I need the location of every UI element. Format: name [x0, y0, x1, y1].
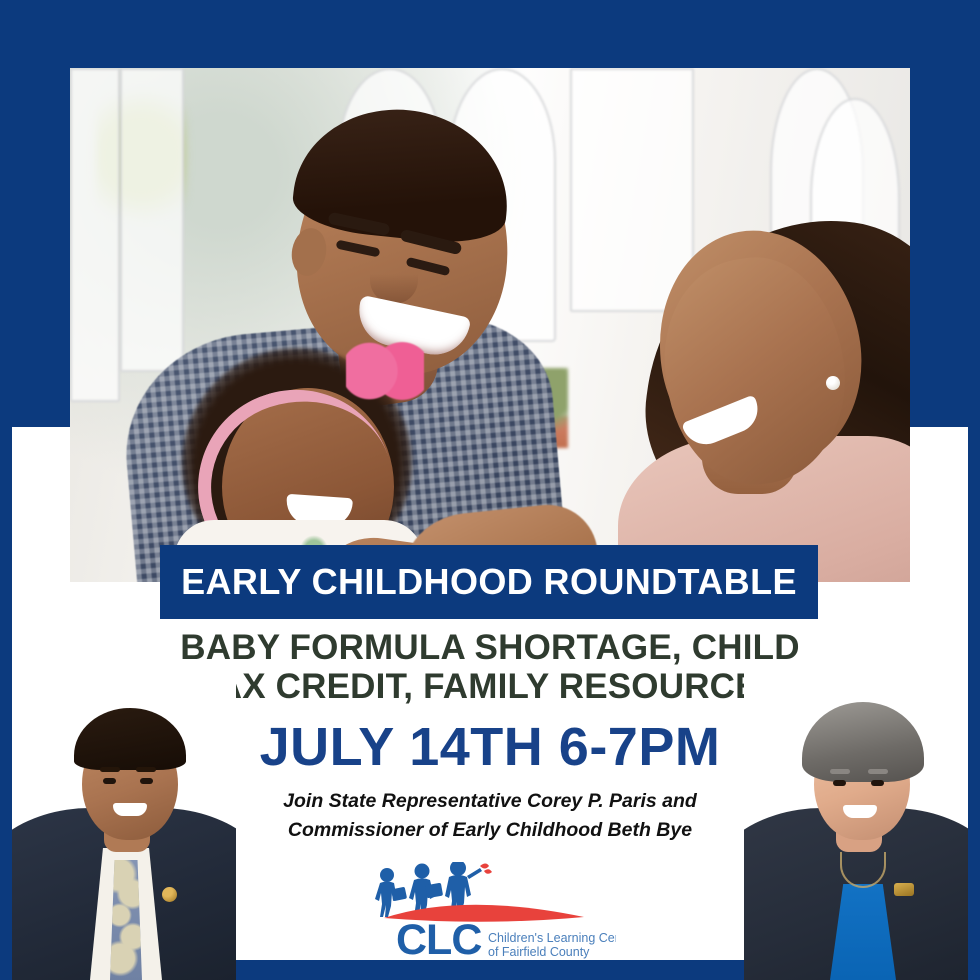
- family-photo: [70, 68, 910, 582]
- event-title-banner: EARLY CHILDHOOD ROUNDTABLE: [160, 545, 818, 619]
- eye: [871, 780, 884, 786]
- clc-name-line1: Children's Learning Centers: [488, 931, 616, 945]
- eyebrow: [868, 769, 888, 774]
- window-frame: [70, 68, 120, 402]
- eye: [140, 778, 153, 784]
- clc-logo-graphic: CLC Children's Learning Centers of Fairf…: [364, 862, 616, 960]
- mother-earring: [826, 376, 840, 390]
- father-nose: [370, 254, 418, 304]
- eye: [103, 778, 116, 784]
- clc-logo: CLC Children's Learning Centers of Fairf…: [364, 862, 616, 960]
- lapel-pin: [894, 883, 914, 896]
- event-flyer: EARLY CHILDHOOD ROUNDTABLE BABY FORMULA …: [0, 0, 980, 980]
- eye: [833, 780, 846, 786]
- mouth: [843, 805, 877, 818]
- mouth: [113, 803, 147, 816]
- speaker-photo-beth-bye: [744, 668, 968, 980]
- speaker-photo-corey-p-paris: [12, 668, 236, 980]
- eyebrow: [830, 769, 850, 774]
- child-hair-bow: [346, 340, 424, 402]
- clc-name-line2: of Fairfield County: [488, 945, 590, 959]
- bottom-accent-strip: [236, 960, 744, 980]
- child-silhouette-icon: [375, 868, 407, 917]
- lapel-pin: [162, 887, 177, 902]
- window-pane: [120, 68, 184, 372]
- eyebrow: [100, 767, 120, 772]
- necktie: [110, 860, 142, 980]
- eyebrow: [136, 767, 156, 772]
- clc-acronym: CLC: [396, 916, 481, 960]
- event-title: EARLY CHILDHOOD ROUNDTABLE: [181, 561, 797, 603]
- topics-headline-line1: BABY FORMULA SHORTAGE, CHILD: [0, 628, 980, 667]
- cabinet-panel: [570, 68, 694, 312]
- red-accent-icon: [480, 864, 492, 874]
